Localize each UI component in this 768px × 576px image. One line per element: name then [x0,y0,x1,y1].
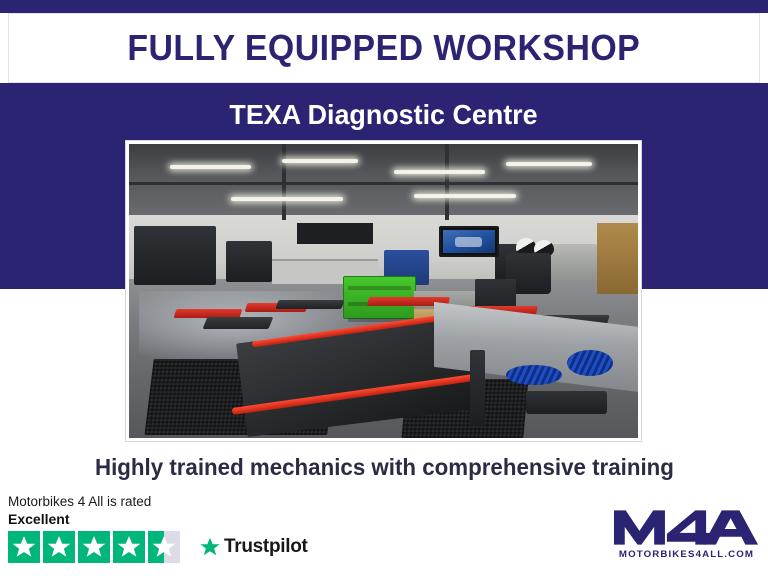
m4a-logo[interactable]: MOTORBIKES4ALL.COM [613,506,760,568]
ceiling-light-6 [414,194,516,198]
wall-tv-screen [439,226,499,256]
workshop-photo-frame [126,141,641,441]
star-icon-1 [8,531,40,563]
star-icon-2 [43,531,75,563]
tool-pegboard [297,223,373,244]
tool-cabinet-dark [226,241,272,282]
ceiling-beam-1 [129,182,638,185]
bottom-white-edge [0,572,768,576]
star-icon-3 [78,531,110,563]
blue-air-hose-2 [567,350,613,376]
title-banner: FULLY EQUIPPED WORKSHOP [8,13,760,83]
bench-frame-leg [470,350,485,426]
caption-container: Highly trained mechanics with comprehens… [0,447,768,487]
top-navy-strip [0,0,768,13]
promo-slide: FULLY EQUIPPED WORKSHOP TEXA Diagnostic … [0,0,768,576]
ceiling-light-2 [282,159,358,163]
page-title: FULLY EQUIPPED WORKSHOP [128,27,641,69]
ceiling-light-1 [170,165,251,169]
blue-air-hose-1 [506,365,562,386]
grey-cabinet [546,244,597,282]
ceiling-light-5 [231,197,343,201]
trustpilot-rated-line: Motorbikes 4 All is rated [8,494,338,510]
trustpilot-star-rating [8,531,183,563]
m4a-logo-subtext: MOTORBIKES4ALL.COM [612,549,762,560]
trustpilot-widget[interactable]: Motorbikes 4 All is rated Excellent [8,494,338,570]
trustpilot-rating-word: Excellent [8,511,338,528]
trustpilot-brand: Trustpilot [199,536,308,558]
ceiling-beam-3 [445,144,449,220]
trustpilot-star-icon [199,536,221,558]
wooden-door [597,223,638,294]
m4a-logo-mark [613,506,760,548]
ramp-dark-2 [275,300,344,309]
star-icon-5-half [148,531,180,563]
ceiling-beam-2 [282,144,286,220]
ceiling-light-4 [506,162,593,166]
trustpilot-rating-row: Trustpilot [8,531,338,563]
tv-motorcycle-image [443,230,495,252]
subtitle: TEXA Diagnostic Centre [230,99,538,131]
trustpilot-brand-name: Trustpilot [224,536,308,558]
subtitle-container: TEXA Diagnostic Centre [0,90,768,140]
trolley-jack [526,391,607,415]
ceiling-light-3 [394,170,486,174]
star-icon-4 [113,531,145,563]
caption-text: Highly trained mechanics with comprehens… [95,454,674,481]
workshop-photo [129,144,638,438]
ramp-dark-1 [203,317,274,329]
wall-panel-left [134,226,215,285]
